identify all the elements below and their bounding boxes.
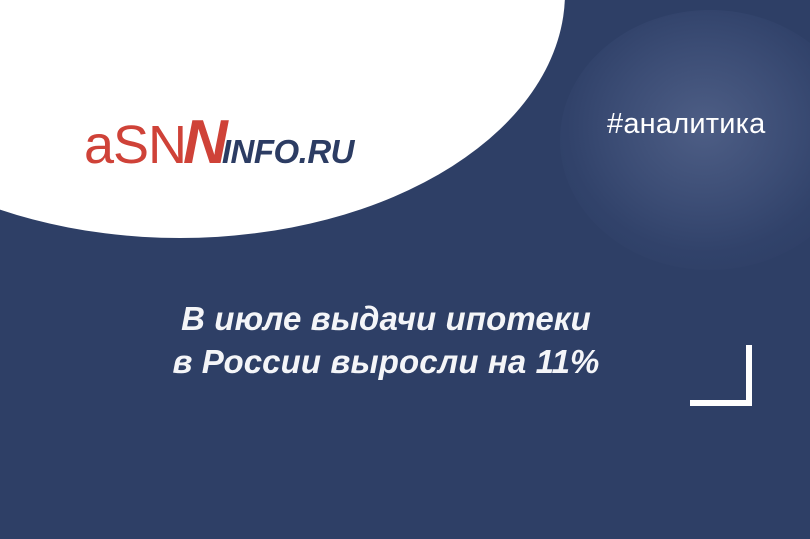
logo-text-info: INFO.RU: [222, 133, 354, 170]
brand-logo[interactable]: aSNNINFO.RU: [84, 112, 354, 172]
hashtag-label: #аналитика: [607, 108, 765, 141]
corner-bracket-icon: [690, 345, 752, 406]
logo-text-n: N: [183, 108, 226, 177]
headline-line-1: В июле выдачи ипотеки: [0, 297, 772, 340]
headline-line-2: в России выросли на 11%: [0, 340, 772, 383]
social-card: aSNNINFO.RU #аналитика В июле выдачи ипо…: [0, 0, 810, 539]
logo-text-asn: aSN: [84, 115, 186, 175]
headline: В июле выдачи ипотеки в России выросли н…: [0, 297, 772, 383]
